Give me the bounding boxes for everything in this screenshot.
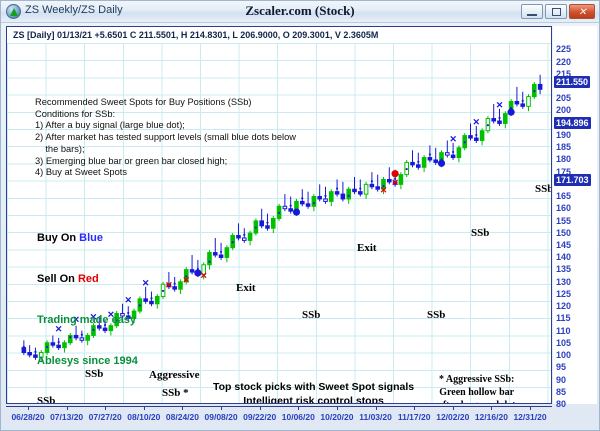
slogan-line3: Trading made easy bbox=[37, 314, 138, 328]
price-tick: 145 bbox=[556, 240, 571, 250]
date-tick: 09/22/20 bbox=[243, 412, 276, 422]
price-tick: 110 bbox=[556, 326, 571, 336]
price-tick: 95 bbox=[556, 362, 566, 372]
date-tick-mark bbox=[67, 406, 68, 410]
chart-callout: SSb bbox=[535, 183, 552, 195]
price-highlight: 194.896 bbox=[554, 117, 591, 129]
chart-callout: SSb bbox=[471, 227, 489, 239]
chart-callout: Exit bbox=[236, 282, 256, 294]
page-title: Zscaler.com (Stock) bbox=[1, 3, 599, 19]
date-tick-mark bbox=[414, 406, 415, 410]
price-tick: 100 bbox=[556, 350, 571, 360]
aggnote-line-2: after large red dot bbox=[437, 399, 516, 404]
svg-text:✕: ✕ bbox=[391, 178, 399, 188]
price-tick: 160 bbox=[556, 203, 571, 213]
quote-info-line: ZS [Daily] 01/13/21 +5.6501 C 211.5501, … bbox=[7, 27, 551, 43]
price-tick: 80 bbox=[556, 399, 566, 409]
slogan-text: Buy On Blue Sell On Red Trading made eas… bbox=[37, 205, 138, 395]
date-tick-mark bbox=[28, 406, 29, 410]
price-tick: 140 bbox=[556, 252, 571, 262]
price-tick: 135 bbox=[556, 264, 571, 274]
date-tick: 10/20/20 bbox=[320, 412, 353, 422]
slogan-line4: Ablesys since 1994 bbox=[37, 355, 138, 369]
price-tick: 190 bbox=[556, 130, 571, 140]
price-tick: 185 bbox=[556, 142, 571, 152]
date-tick-mark bbox=[260, 406, 261, 410]
svg-text:✕: ✕ bbox=[142, 278, 150, 288]
date-tick-mark bbox=[530, 406, 531, 410]
title-bar: ZS Weekly/ZS Daily Zscaler.com (Stock) ✕ bbox=[1, 1, 599, 23]
date-axis: 06/28/2007/13/2007/27/2008/10/2008/24/20… bbox=[6, 406, 552, 428]
minimize-button[interactable] bbox=[521, 4, 543, 19]
date-tick: 10/06/20 bbox=[282, 412, 315, 422]
svg-text:✕: ✕ bbox=[165, 280, 173, 290]
svg-text:✕: ✕ bbox=[473, 117, 481, 127]
price-tick: 125 bbox=[556, 289, 571, 299]
slogan-line1a: Buy On bbox=[37, 232, 79, 244]
price-tick: 85 bbox=[556, 387, 566, 397]
price-tick: 180 bbox=[556, 154, 571, 164]
date-tick-mark bbox=[182, 406, 183, 410]
condition-line-0: Recommended Sweet Spots for Buy Position… bbox=[35, 97, 296, 109]
conditions-text: Recommended Sweet Spots for Buy Position… bbox=[35, 97, 296, 179]
date-tick: 08/24/20 bbox=[166, 412, 199, 422]
svg-text:✕: ✕ bbox=[449, 134, 457, 144]
slogan-line2a: Sell On bbox=[37, 273, 78, 285]
date-tick-mark bbox=[298, 406, 299, 410]
chart-callout: SSb bbox=[302, 309, 320, 321]
date-tick-mark bbox=[337, 406, 338, 410]
slogan-line1b: Blue bbox=[79, 232, 103, 244]
date-tick: 12/16/20 bbox=[475, 412, 508, 422]
date-tick-mark bbox=[453, 406, 454, 410]
marketing-pitch-text: Top stock picks with Sweet Spot signalsI… bbox=[213, 381, 414, 404]
slogan-line2b: Red bbox=[78, 273, 99, 285]
price-tick: 150 bbox=[556, 228, 571, 238]
price-highlight: 211.550 bbox=[554, 76, 590, 88]
chart-callout: SSb bbox=[37, 395, 55, 404]
price-tick: 225 bbox=[556, 44, 571, 54]
condition-line-2: 1) After a buy signal (large blue dot); bbox=[35, 120, 296, 132]
date-tick-mark bbox=[105, 406, 106, 410]
svg-text:✕: ✕ bbox=[183, 275, 191, 285]
date-tick: 08/10/20 bbox=[127, 412, 160, 422]
date-tick: 06/28/20 bbox=[11, 412, 44, 422]
date-tick-mark bbox=[376, 406, 377, 410]
date-tick: 12/31/20 bbox=[513, 412, 546, 422]
price-tick: 155 bbox=[556, 216, 571, 226]
date-tick: 11/17/20 bbox=[398, 412, 431, 422]
condition-line-1: Conditions for SSb: bbox=[35, 109, 296, 121]
date-tick: 12/02/20 bbox=[436, 412, 469, 422]
date-tick: 07/27/20 bbox=[89, 412, 122, 422]
date-tick-mark bbox=[144, 406, 145, 410]
price-tick: 115 bbox=[556, 313, 571, 323]
chart-callout: SSb bbox=[85, 368, 103, 380]
price-axis: 2252202152052001901851801751651601551501… bbox=[553, 26, 597, 404]
chart-callout: SSb * bbox=[162, 387, 189, 399]
price-tick: 165 bbox=[556, 191, 571, 201]
axis-line bbox=[6, 406, 552, 407]
price-tick: 220 bbox=[556, 57, 571, 67]
price-tick: 205 bbox=[556, 93, 571, 103]
aggnote-line-0: * Aggressive SSb: bbox=[437, 373, 516, 386]
date-tick: 09/08/20 bbox=[205, 412, 238, 422]
close-icon: ✕ bbox=[578, 8, 587, 17]
chart-callout: Exit bbox=[357, 242, 377, 254]
chart-callout: Aggressive bbox=[149, 369, 200, 381]
svg-text:✕: ✕ bbox=[380, 185, 388, 195]
date-tick-mark bbox=[491, 406, 492, 410]
price-highlight: 171.703 bbox=[554, 174, 591, 186]
chart-window: ZS Weekly/ZS Daily Zscaler.com (Stock) ✕… bbox=[0, 0, 600, 431]
condition-line-5: 3) Emerging blue bar or green bar closed… bbox=[35, 156, 296, 168]
svg-text:✕: ✕ bbox=[496, 100, 504, 110]
date-tick: 07/13/20 bbox=[50, 412, 83, 422]
price-tick: 120 bbox=[556, 301, 571, 311]
price-tick: 90 bbox=[556, 375, 566, 385]
aggressive-ssb-note: * Aggressive SSb:Green hollow barafter l… bbox=[437, 373, 516, 404]
pitch-line-0: Top stock picks with Sweet Spot signals bbox=[213, 381, 414, 395]
close-button[interactable]: ✕ bbox=[569, 4, 595, 19]
date-tick: 11/03/20 bbox=[359, 412, 392, 422]
chart-callout: SSb bbox=[427, 309, 445, 321]
maximize-button[interactable] bbox=[545, 4, 567, 19]
price-tick: 200 bbox=[556, 105, 571, 115]
date-tick-mark bbox=[221, 406, 222, 410]
condition-line-6: 4) Buy at Sweet Spots bbox=[35, 167, 296, 179]
plot-area[interactable]: ✕✕✕✕✕✕✕✕✕✕✕✕✕✕ Recommended Sweet Spots f… bbox=[7, 43, 551, 403]
chart-panel[interactable]: ZS [Daily] 01/13/21 +5.6501 C 211.5501, … bbox=[6, 26, 552, 404]
pitch-line-1: Intelligent risk control stops bbox=[213, 395, 414, 405]
aggnote-line-1: Green hollow bar bbox=[437, 386, 516, 399]
price-tick: 130 bbox=[556, 277, 571, 287]
condition-line-3: 2) After market has tested support level… bbox=[35, 132, 296, 144]
price-tick: 105 bbox=[556, 338, 571, 348]
condition-line-4: the bars); bbox=[35, 144, 296, 156]
